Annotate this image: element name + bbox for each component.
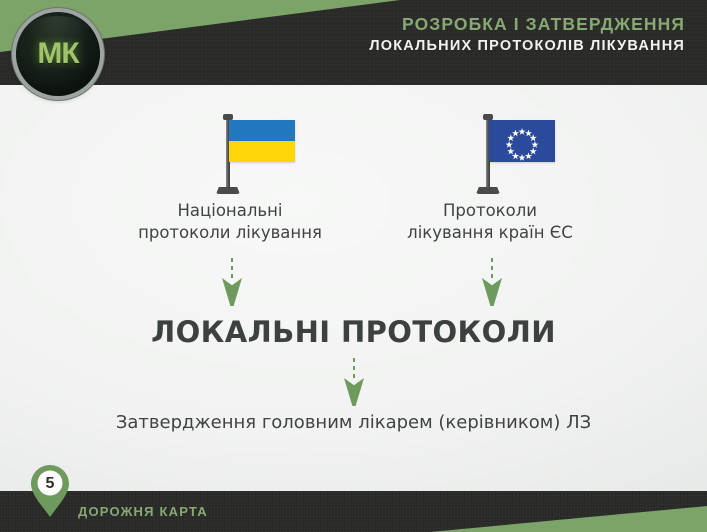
footer-label: ДОРОЖНЯ КАРТА: [78, 504, 208, 519]
eu-label-line2: лікування країн ЄС: [340, 222, 640, 244]
ukraine-flag-yellow-stripe: [229, 141, 295, 162]
map-pin-icon: 5: [29, 464, 71, 518]
arrow-dashed-stem: [491, 258, 493, 280]
slide-footer: ДОРОЖНЯ КАРТА: [0, 491, 707, 532]
slide-header: РОЗРОБКА І ЗАТВЕРДЖЕННЯ ЛОКАЛЬНИХ ПРОТОК…: [0, 0, 707, 85]
ukraine-flag-icon: [229, 120, 295, 162]
eu-stars-icon: [489, 120, 555, 162]
arrow-dashed-stem: [353, 358, 355, 380]
logo-badge: МК: [16, 12, 100, 96]
header-title-block: РОЗРОБКА І ЗАТВЕРДЖЕННЯ ЛОКАЛЬНИХ ПРОТОК…: [369, 14, 685, 56]
slide: РОЗРОБКА І ЗАТВЕРДЖЕННЯ ЛОКАЛЬНИХ ПРОТОК…: [0, 0, 707, 532]
ukraine-flag-label: Національні протоколи лікування: [80, 200, 380, 244]
arrow-dashed-stem: [231, 258, 233, 280]
header-title-line2: ЛОКАЛЬНИХ ПРОТОКОЛІВ ЛІКУВАННЯ: [369, 37, 685, 56]
logo-text: МК: [16, 37, 100, 71]
main-heading: ЛОКАЛЬНІ ПРОТОКОЛИ: [0, 315, 707, 349]
header-title-line1: РОЗРОБКА І ЗАТВЕРДЖЕННЯ: [369, 14, 685, 35]
ukraine-label-line2: протоколи лікування: [80, 222, 380, 244]
eu-label-line1: Протоколи: [340, 200, 640, 222]
arrow-down-icon-left: [220, 258, 244, 306]
flag-pole-base: [476, 187, 500, 194]
arrow-down-icon-right: [480, 258, 504, 306]
arrow-head: [344, 378, 364, 406]
european-union-flag-icon: [489, 120, 555, 162]
arrow-head: [222, 278, 242, 306]
flag-pole-base: [216, 187, 240, 194]
ukraine-flag-unit: [212, 114, 332, 194]
eu-flag-label: Протоколи лікування країн ЄС: [340, 200, 640, 244]
step-number: 5: [29, 475, 71, 493]
bottom-statement: Затвердження головним лікарем (керівнико…: [0, 412, 707, 433]
ukraine-label-line1: Національні: [80, 200, 380, 222]
eu-flag-unit: [472, 114, 592, 194]
arrow-head: [482, 278, 502, 306]
arrow-down-icon-center: [342, 358, 366, 406]
ukraine-flag-blue-stripe: [229, 120, 295, 141]
